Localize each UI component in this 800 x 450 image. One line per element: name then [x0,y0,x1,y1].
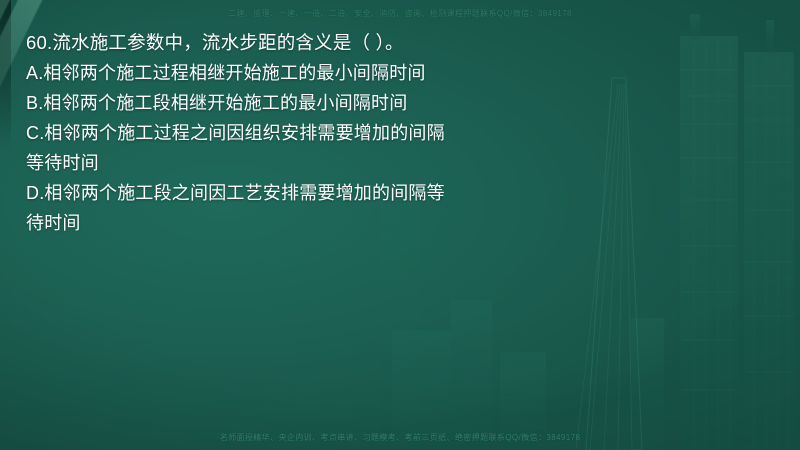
option-a[interactable]: A.相邻两个施工过程相继开始施工的最小间隔时间 [26,58,756,88]
option-c-line2[interactable]: 等待时间 [26,148,756,178]
option-d[interactable]: D.相邻两个施工段之间因工艺安排需要增加的间隔等 [26,178,756,208]
question-stem: 60.流水施工参数中，流水步距的含义是（ ）。 [26,28,756,58]
header-promo-text: 二建、监理、一建、一造、二造、安全、消防、咨询、检测课程押题联系QQ/微信：38… [0,8,800,19]
footer-promo-text: 名师面授精华、央企内训、考点串讲、习题模考、考前三页纸、绝密押题联系QQ/微信：… [0,432,800,443]
question-block: 60.流水施工参数中，流水步距的含义是（ ）。 A.相邻两个施工过程相继开始施工… [26,28,756,238]
option-b[interactable]: B.相邻两个施工段相继开始施工的最小间隔时间 [26,88,756,118]
option-d-line2[interactable]: 待时间 [26,208,756,238]
slide-canvas: 二建、监理、一建、一造、二造、安全、消防、咨询、检测课程押题联系QQ/微信：38… [0,0,800,450]
option-c[interactable]: C.相邻两个施工过程之间因组织安排需要增加的间隔 [26,118,756,148]
